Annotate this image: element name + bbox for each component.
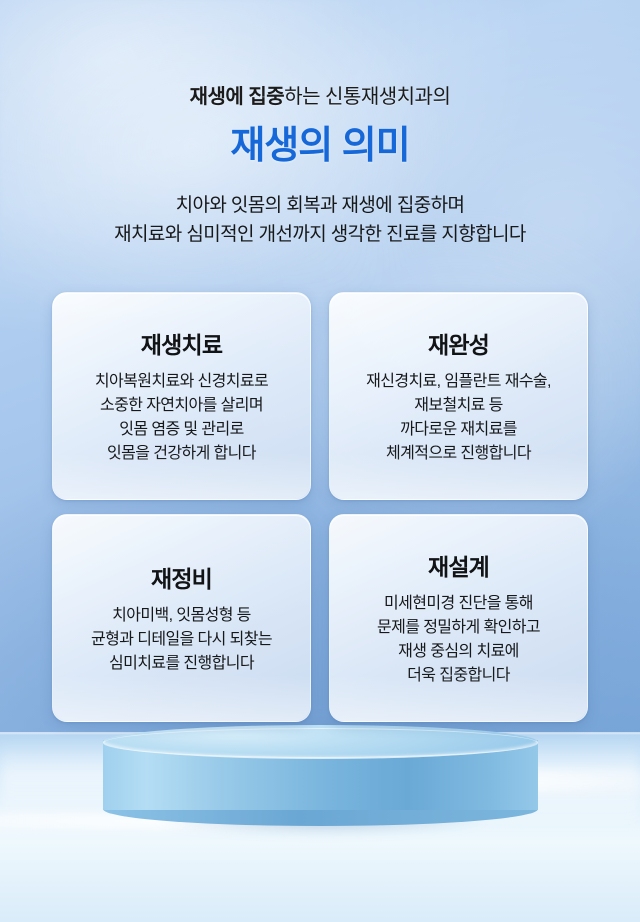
feature-card-2-body: 재신경치료, 임플란트 재수술, 재보철치료 등 까다로운 재치료를 체계적으로…: [366, 370, 551, 466]
feature-card-2-line-3: 까다로운 재치료를: [366, 418, 551, 442]
eyebrow-rest-text: 하는 신통재생치과의: [284, 86, 450, 108]
feature-card-4-title: 재설계: [428, 548, 489, 582]
feature-card-4-line-2: 문제를 정밀하게 확인하고: [377, 616, 540, 640]
feature-card-1-line-3: 잇몸 염증 및 관리로: [95, 418, 268, 442]
eyebrow-text: 재생에 집중하는 신통재생치과의: [0, 84, 640, 111]
header-block: 재생에 집중하는 신통재생치과의 재생의 의미 치아와 잇몸의 회복과 재생에 …: [0, 0, 640, 249]
promo-banner: 재생에 집중하는 신통재생치과의 재생의 의미 치아와 잇몸의 회복과 재생에 …: [0, 0, 640, 922]
feature-card-3-line-2: 균형과 디테일을 다시 되찾는: [91, 628, 272, 652]
feature-card-2[interactable]: 재완성 재신경치료, 임플란트 재수술, 재보철치료 등 까다로운 재치료를 체…: [329, 292, 588, 500]
feature-card-1-line-4: 잇몸을 건강하게 합니다: [95, 442, 268, 466]
eyebrow-bold-text: 재생에 집중: [190, 86, 285, 108]
feature-card-1-title: 재생치료: [141, 326, 222, 360]
feature-card-grid: 재생치료 치아복원치료와 신경치료로 소중한 자연치아를 살리며 잇몸 염증 및…: [52, 292, 588, 722]
feature-card-1-body: 치아복원치료와 신경치료로 소중한 자연치아를 살리며 잇몸 염증 및 관리로 …: [95, 370, 268, 466]
feature-card-2-line-1: 재신경치료, 임플란트 재수술,: [366, 370, 551, 394]
feature-card-4[interactable]: 재설계 미세현미경 진단을 통해 문제를 정밀하게 확인하고 재생 중심의 치료…: [329, 514, 588, 722]
feature-card-3-title: 재정비: [151, 560, 212, 594]
feature-card-4-line-3: 재생 중심의 치료에: [377, 640, 540, 664]
feature-card-1-line-1: 치아복원치료와 신경치료로: [95, 370, 268, 394]
subtitle-line-2: 재치료와 심미적인 개선까지 생각한 진료를 지향합니다: [0, 220, 640, 249]
feature-card-1[interactable]: 재생치료 치아복원치료와 신경치료로 소중한 자연치아를 살리며 잇몸 염증 및…: [52, 292, 311, 500]
page-title: 재생의 의미: [0, 123, 640, 171]
feature-card-4-line-4: 더욱 집중합니다: [377, 664, 540, 688]
podium-cylinder: [103, 726, 538, 822]
feature-card-2-title: 재완성: [428, 326, 489, 360]
feature-card-2-line-2: 재보철치료 등: [366, 394, 551, 418]
feature-card-4-line-1: 미세현미경 진단을 통해: [377, 592, 540, 616]
podium-rim-highlight: [103, 728, 538, 758]
feature-card-4-body: 미세현미경 진단을 통해 문제를 정밀하게 확인하고 재생 중심의 치료에 더욱…: [377, 592, 540, 688]
feature-card-3[interactable]: 재정비 치아미백, 잇몸성형 등 균형과 디테일을 다시 되찾는 심미치료를 진…: [52, 514, 311, 722]
feature-card-1-line-2: 소중한 자연치아를 살리며: [95, 394, 268, 418]
feature-card-3-line-3: 심미치료를 진행합니다: [91, 652, 272, 676]
feature-card-3-line-1: 치아미백, 잇몸성형 등: [91, 604, 272, 628]
subtitle-line-1: 치아와 잇몸의 회복과 재생에 집중하며: [0, 191, 640, 220]
feature-card-2-line-4: 체계적으로 진행합니다: [366, 442, 551, 466]
feature-card-3-body: 치아미백, 잇몸성형 등 균형과 디테일을 다시 되찾는 심미치료를 진행합니다: [91, 604, 272, 676]
subtitle-text: 치아와 잇몸의 회복과 재생에 집중하며 재치료와 심미적인 개선까지 생각한 …: [0, 191, 640, 250]
